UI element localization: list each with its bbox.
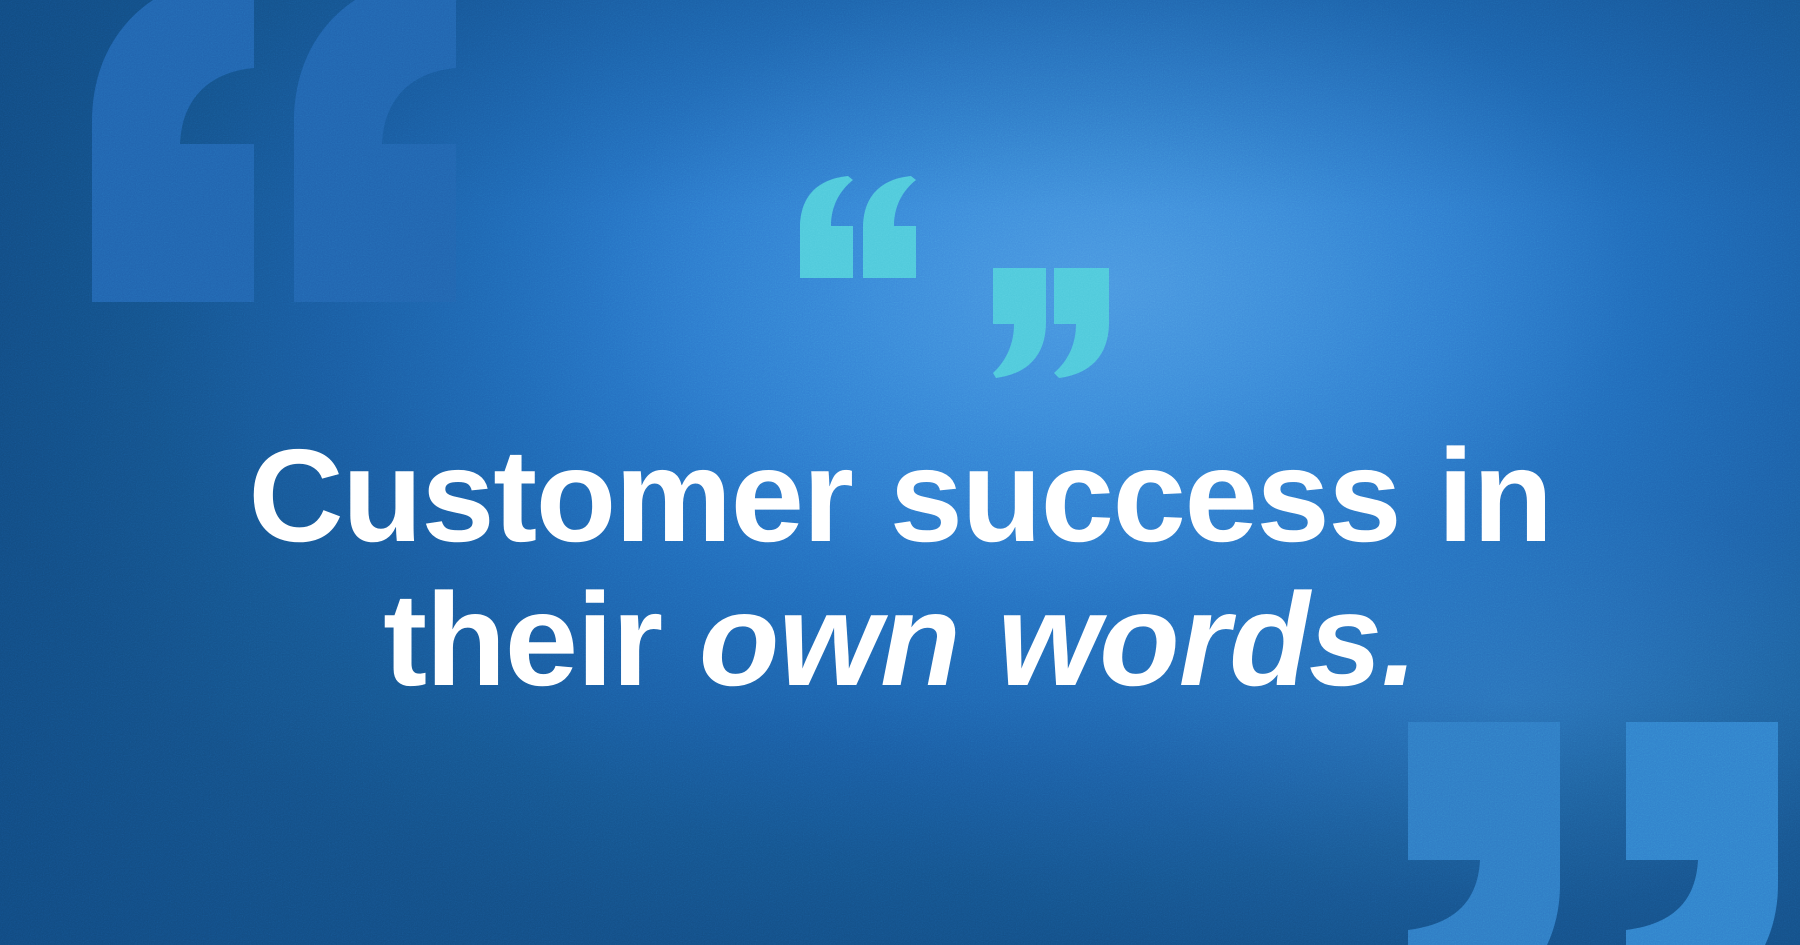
headline-line-2: their own words.	[0, 568, 1800, 712]
accent-close-quote-mark-icon	[993, 268, 1109, 378]
accent-open-quote-mark-icon	[800, 176, 916, 278]
decorative-quote-mark-top-left-icon	[88, 0, 460, 302]
quote-banner: Customer success in their own words.	[0, 0, 1800, 945]
headline-line-2-emphasis: own words.	[699, 566, 1417, 713]
decorative-quote-mark-bottom-right-left-icon	[1322, 722, 1560, 945]
headline-line-1: Customer success in	[0, 424, 1800, 568]
headline-line-2-plain: their	[383, 566, 699, 713]
decorative-quote-mark-bottom-right-right-icon	[1540, 722, 1778, 945]
page-title: Customer success in their own words.	[0, 424, 1800, 712]
